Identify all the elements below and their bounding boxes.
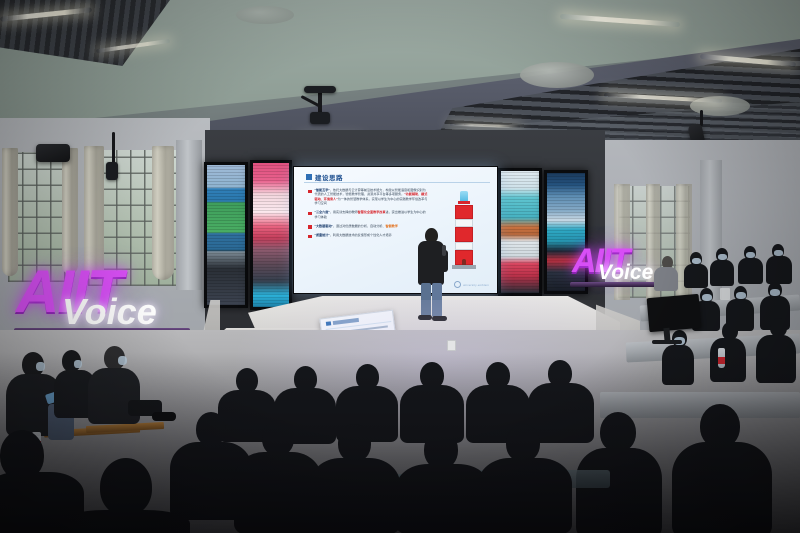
lighthouse-base (452, 265, 476, 269)
wall-outlet-right (720, 288, 730, 300)
curtain-l1 (2, 148, 18, 276)
wall-speaker-left (36, 144, 70, 162)
university-emblem-icon (454, 281, 461, 288)
audience-mask (770, 289, 780, 296)
bullet-lead: "大数据驱动" (315, 224, 333, 228)
slide-surface: 建设思路 "智能互学"，依托大数据与云计算等前沿技术能力，构建以智能语音和图像识… (294, 167, 497, 293)
bullet-text: ，利用大数据技术的反馈形成个性化人才培养 (330, 233, 392, 237)
bullet-text: ，通过对优质数据的分析，自动分析、 (333, 224, 386, 228)
audience-head (196, 412, 226, 446)
slide-title: 建设思路 (306, 172, 343, 182)
bullet-highlight: 智慧化全面教学改革 (358, 210, 386, 214)
lighthouse-band-4 (455, 242, 473, 250)
ceiling-vent-c (236, 6, 294, 24)
bench-right-lower (600, 392, 800, 418)
foreground-head (600, 412, 636, 452)
lighthouse-graphic (451, 191, 477, 269)
bullet-marker-icon (308, 190, 312, 194)
lighthouse-cap (458, 201, 470, 204)
ceiling-vent-a (520, 62, 594, 88)
slide-bullet-item: "三全六度"，用实训支撑的教师智慧化全面教学改革进，突出推进以学生为中心的学习体… (308, 210, 428, 219)
audience-torso (710, 260, 734, 286)
slide-bullet-item: "智能互学"，依托大数据与云计算等前沿技术能力，构建以智能语音和图像识别为代表的… (308, 188, 428, 206)
audience-head (506, 424, 540, 462)
lighthouse-lamp-icon (460, 191, 468, 201)
audience-torso (396, 464, 490, 533)
panel-host-pink (250, 160, 292, 310)
slide-title-rule (304, 182, 490, 183)
audience-head (262, 420, 294, 456)
audience-torso (662, 345, 694, 385)
foreground-torso (672, 442, 772, 533)
audience-torso (684, 264, 708, 288)
lecture-hall-scene: 建设思路 "智能互学"，依托大数据与云计算等前沿技术能力，构建以智能语音和图像识… (0, 0, 800, 533)
sign-secondary-text: Voice (62, 294, 157, 330)
wall-outlet (447, 340, 456, 351)
bullet-lead: "三全六度" (315, 210, 330, 214)
bullet-marker-icon (308, 235, 312, 239)
audience-mask (74, 360, 82, 368)
audience-torso (234, 452, 322, 533)
bullet-text: ，用实训支撑的教师 (330, 210, 358, 214)
hanging-speaker-rod (700, 110, 703, 126)
projector-mount-plate (304, 86, 336, 93)
foreground-head (100, 458, 152, 516)
water-bottle-right (718, 348, 725, 368)
audience-mask (736, 292, 746, 299)
lighthouse-band-3 (455, 227, 473, 242)
audience-torso (478, 458, 572, 533)
curtain-l2 (62, 148, 78, 274)
slide-bullet-item: "质量统计"，利用大数据技术的反馈形成个性化人才培养 (308, 233, 428, 238)
audience-mask (702, 294, 712, 301)
audience-torso (710, 338, 746, 382)
handheld-microphone (442, 245, 446, 256)
camera-mount-pole (112, 132, 115, 166)
slide-bullet-list: "智能互学"，依托大数据与云计算等前沿技术能力，构建以智能语音和图像识别为代表的… (308, 188, 428, 243)
audience-head (338, 424, 371, 462)
floor-monitor (647, 294, 702, 332)
audience-torso (310, 458, 400, 533)
main-presentation-screen: 建设思路 "智能互学"，依托大数据与云计算等前沿技术能力，构建以智能语音和图像识… (293, 166, 498, 294)
slide-title-bullet-icon (306, 174, 312, 180)
audience-shoe (152, 412, 176, 421)
camera-head (106, 162, 118, 180)
sign-secondary-text: Voice (598, 262, 653, 283)
audience-torso (654, 267, 678, 291)
floor-monitor-base (652, 340, 682, 344)
panel-lecture-teal (498, 168, 542, 296)
slide-bullet-item: "大数据驱动"，通过对优质数据的分析，自动分析、智能教学 (308, 224, 428, 229)
audience-mask (36, 362, 45, 371)
curtain-l4 (152, 146, 174, 280)
audience-torso (756, 335, 796, 383)
audience-mask (118, 356, 127, 365)
foreground-torso (0, 472, 84, 533)
slide-footer-logo: university-emblem (454, 281, 489, 288)
bullet-highlight: 智能教学 (386, 224, 398, 228)
lighthouse-band-2 (455, 219, 473, 227)
stage-left-sign: AIIT Voice (16, 262, 121, 322)
lighthouse-band-1 (455, 205, 473, 219)
slide-title-text: 建设思路 (315, 172, 343, 182)
bullet-marker-icon (308, 212, 312, 216)
panel-campus-assembly (204, 162, 248, 308)
pillar-left (176, 140, 202, 290)
foreground-torso (576, 448, 662, 533)
bullet-lead: "质量统计" (315, 233, 330, 237)
university-name-text: university-emblem (463, 283, 489, 287)
projector-head (310, 112, 330, 124)
stage-right-sign: AIIT Voice (572, 244, 628, 278)
audience-torso (738, 258, 763, 284)
audience-torso (766, 256, 792, 284)
bullet-marker-icon (308, 225, 312, 229)
